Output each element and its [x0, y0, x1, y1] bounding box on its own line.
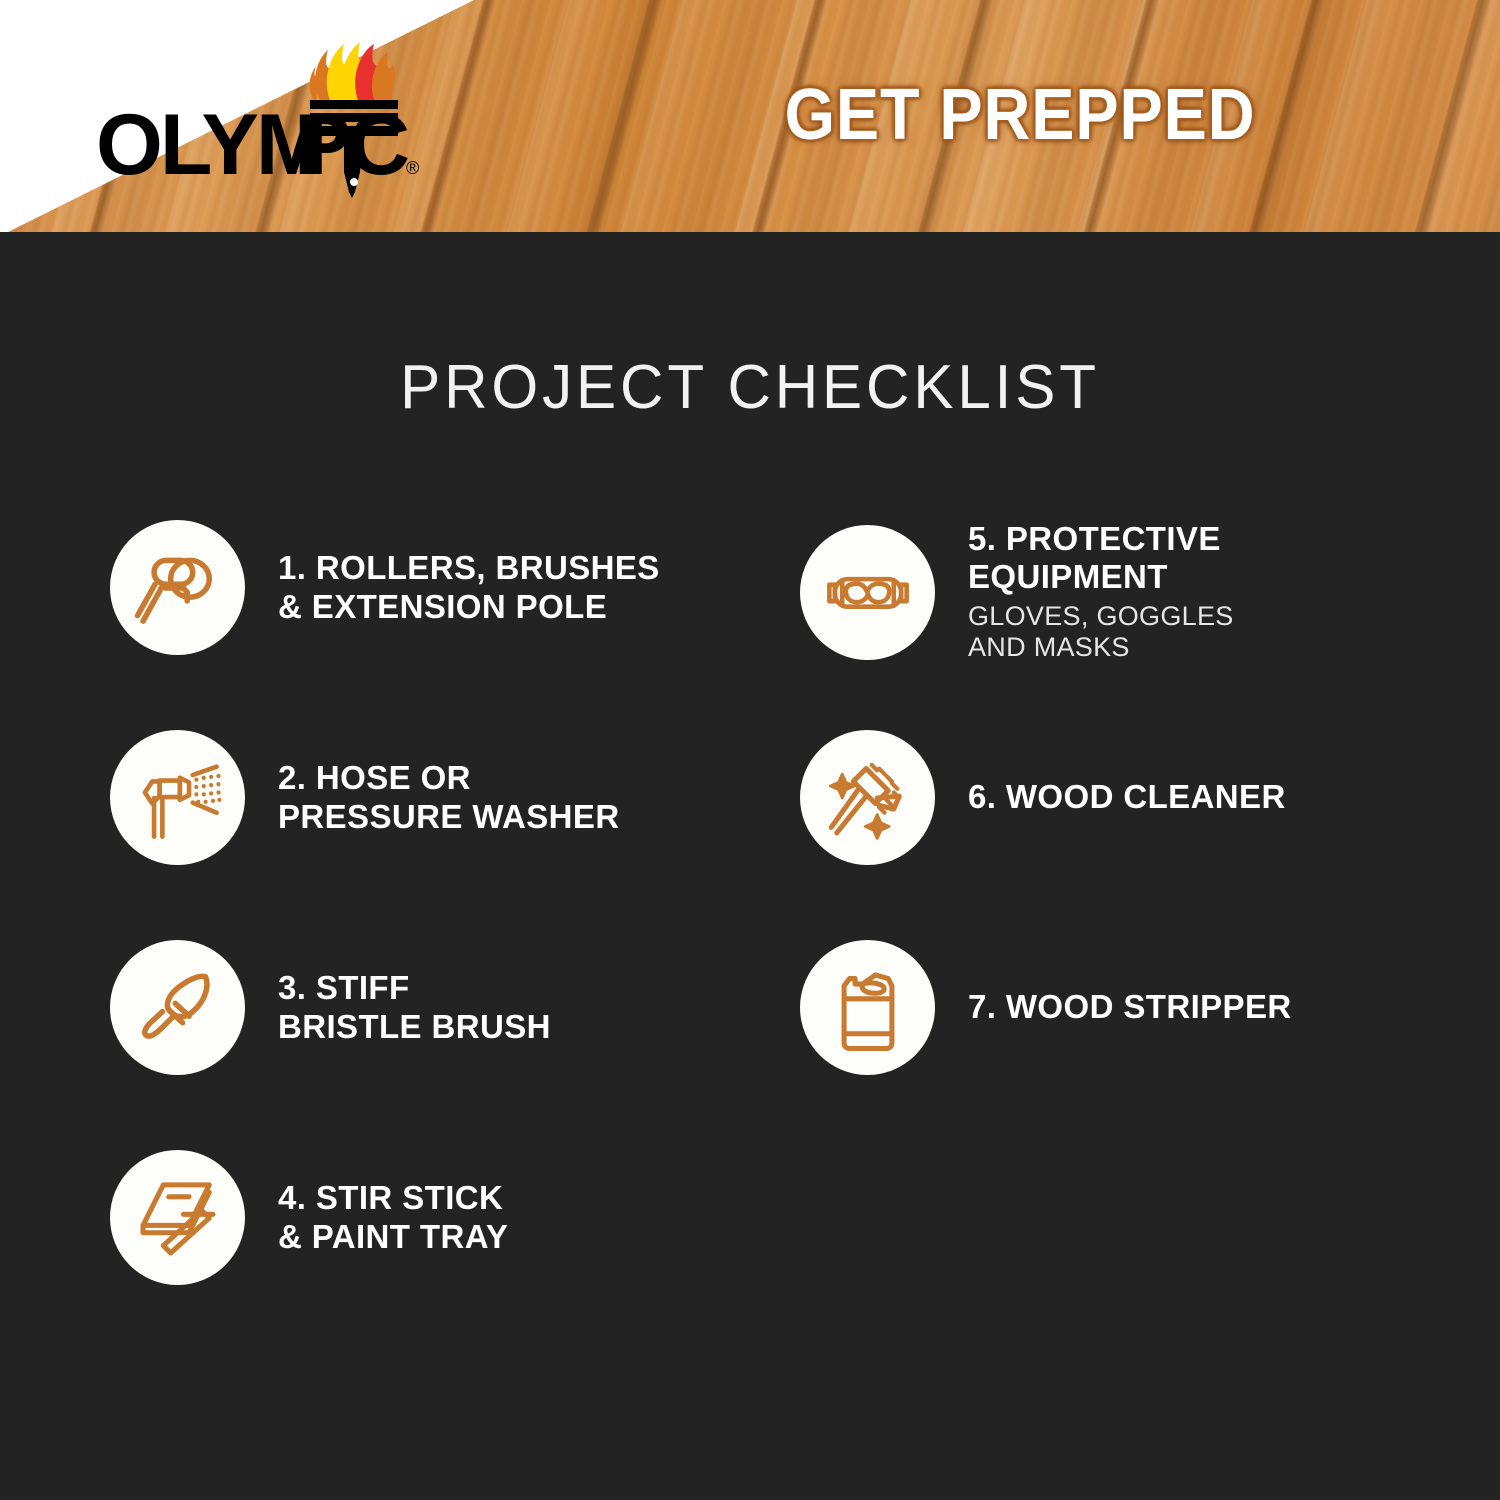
svg-text:C: C [348, 97, 408, 193]
checklist-item-5[interactable]: 5. PROTECTIVE EQUIPMENT GLOVES, GOGGLES … [800, 520, 1500, 664]
scrub-brush-sparkle-icon [800, 730, 935, 865]
checklist-item-2-label: 2. HOSE OR PRESSURE WASHER [278, 759, 620, 836]
safety-goggles-icon [800, 525, 935, 660]
checklist-item-6-text: 6. WOOD CLEANER [968, 778, 1286, 816]
checklist-item-3[interactable]: 3. STIFF BRISTLE BRUSH [110, 940, 810, 1075]
checklist-item-6[interactable]: 6. WOOD CLEANER [800, 730, 1500, 865]
checklist-item-3-label: 3. STIFF BRISTLE BRUSH [278, 969, 551, 1046]
checklist-item-5-sublabel: GLOVES, GOGGLES AND MASKS [968, 601, 1234, 665]
project-checklist: 1. ROLLERS, BRUSHES & EXTENSION POLE [0, 520, 1500, 1320]
checklist-item-5-text: 5. PROTECTIVE EQUIPMENT GLOVES, GOGGLES … [968, 520, 1234, 664]
checklist-item-3-text: 3. STIFF BRISTLE BRUSH [278, 969, 551, 1046]
olympic-logo[interactable]: OLYM P C ® [58, 22, 438, 202]
bristle-brush-icon [110, 940, 245, 1075]
checklist-item-1-label: 1. ROLLERS, BRUSHES & EXTENSION POLE [278, 549, 660, 626]
page-title: PROJECT CHECKLIST [23, 352, 1478, 423]
checklist-item-7[interactable]: 7. WOOD STRIPPER [800, 940, 1500, 1075]
paint-tray-stir-stick-icon [110, 1150, 245, 1285]
svg-text:OLYM: OLYM [96, 97, 325, 193]
checklist-item-4-text: 4. STIR STICK & PAINT TRAY [278, 1179, 508, 1256]
checklist-item-6-label: 6. WOOD CLEANER [968, 778, 1286, 816]
checklist-item-4-label: 4. STIR STICK & PAINT TRAY [278, 1179, 508, 1256]
checklist-item-7-label: 7. WOOD STRIPPER [968, 988, 1292, 1026]
registered-trademark-icon: ® [406, 158, 419, 178]
header-divider [0, 232, 1500, 236]
header-banner: OLYM P C ® GET PREPPED [0, 0, 1500, 236]
checklist-item-4[interactable]: 4. STIR STICK & PAINT TRAY [110, 1150, 810, 1285]
checklist-item-1-text: 1. ROLLERS, BRUSHES & EXTENSION POLE [278, 549, 660, 626]
checklist-item-2-text: 2. HOSE OR PRESSURE WASHER [278, 759, 620, 836]
pressure-washer-icon [110, 730, 245, 865]
checklist-item-2[interactable]: 2. HOSE OR PRESSURE WASHER [110, 730, 810, 865]
torch-paintbrush-flame-logo-icon: OLYM P C ® [58, 22, 438, 202]
checklist-item-5-label: 5. PROTECTIVE EQUIPMENT [968, 520, 1234, 597]
checklist-item-7-text: 7. WOOD STRIPPER [968, 988, 1292, 1026]
banner-title: GET PREPPED [732, 74, 1308, 156]
paint-roller-icon [110, 520, 245, 655]
checklist-item-1[interactable]: 1. ROLLERS, BRUSHES & EXTENSION POLE [110, 520, 810, 655]
svg-text:P: P [294, 97, 349, 193]
chemical-jug-icon [800, 940, 935, 1075]
